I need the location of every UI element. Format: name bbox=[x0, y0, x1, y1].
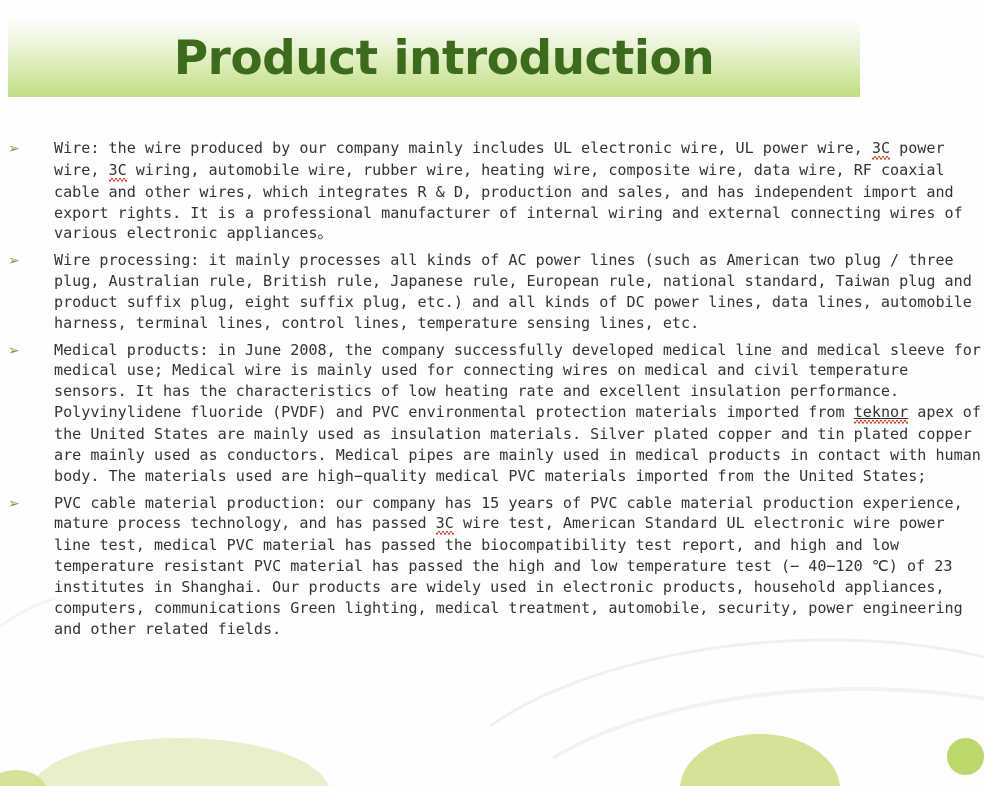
bullet-text-3: Medical products: in June 2008, the comp… bbox=[54, 340, 984, 487]
decor-circle-bottom-center bbox=[680, 734, 840, 786]
list-item: ➢ PVC cable material production: our com… bbox=[0, 493, 984, 640]
decor-circle-bottom-left-small bbox=[0, 770, 46, 786]
bullet-text-4: PVC cable material production: our compa… bbox=[54, 493, 984, 640]
page-title: Product introduction bbox=[8, 21, 860, 97]
list-item: ➢ Medical products: in June 2008, the co… bbox=[0, 340, 984, 487]
spellcheck-word: teknor bbox=[854, 402, 909, 424]
list-item: ➢ Wire: the wire produced by our company… bbox=[0, 138, 984, 244]
decor-circle-bottom-right bbox=[947, 738, 984, 775]
title-banner: Product introduction bbox=[8, 21, 860, 97]
spellcheck-word: 3C bbox=[872, 138, 890, 160]
arrow-bullet-icon: ➢ bbox=[8, 140, 26, 158]
slide-body: ➢ Wire: the wire produced by our company… bbox=[0, 138, 984, 639]
decor-arc-inner bbox=[494, 671, 984, 786]
spellcheck-word: 3C bbox=[109, 160, 127, 182]
spellcheck-word: 3C bbox=[436, 513, 454, 535]
bullet-text-1: Wire: the wire produced by our company m… bbox=[54, 138, 984, 244]
bullet-text-2: Wire processing: it mainly processes all… bbox=[54, 250, 984, 333]
arrow-bullet-icon: ➢ bbox=[8, 342, 26, 360]
decor-circle-bottom-left bbox=[30, 738, 330, 786]
decor-arc-outer bbox=[420, 616, 984, 786]
arrow-bullet-icon: ➢ bbox=[8, 252, 26, 270]
list-item: ➢ Wire processing: it mainly processes a… bbox=[0, 250, 984, 333]
slide-canvas: Product introduction ➢ Wire: the wire pr… bbox=[0, 0, 984, 786]
arrow-bullet-icon: ➢ bbox=[8, 495, 26, 513]
